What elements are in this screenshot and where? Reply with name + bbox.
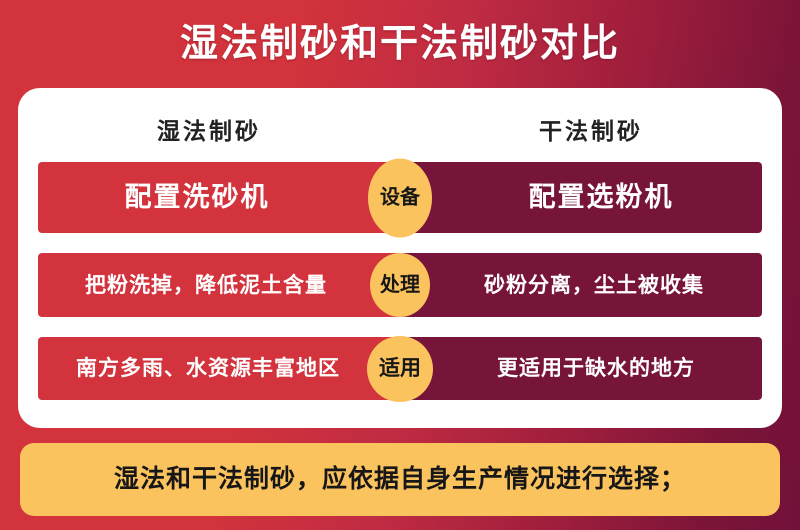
footer-banner-text: 湿法和干法制砂，应依据自身生产情况进行选择； xyxy=(114,467,686,492)
row-left-text: 配置洗砂机 xyxy=(125,184,270,211)
row-left-text: 把粉洗掉，降低泥土含量 xyxy=(85,275,327,296)
column-header-wet-label: 湿法制砂 xyxy=(157,112,261,146)
column-header-dry: 干法制砂 xyxy=(400,104,782,154)
row-right-cell: 配置选粉机 xyxy=(400,162,762,233)
row-left-cell: 南方多雨、水资源丰富地区 xyxy=(38,337,400,400)
comparison-column-headers: 湿法制砂 干法制砂 xyxy=(18,104,782,154)
row-category-label: 设备 xyxy=(380,188,420,208)
infographic-poster: 湿法制砂和干法制砂对比 湿法制砂 干法制砂 配置洗砂机 配置选粉机 xyxy=(0,0,800,530)
row-category-label: 处理 xyxy=(380,275,420,295)
row-category-badge: 适用 xyxy=(367,336,433,402)
page-title: 湿法制砂和干法制砂对比 xyxy=(180,25,620,63)
row-left-text: 南方多雨、水资源丰富地区 xyxy=(76,358,340,379)
row-right-cell: 更适用于缺水的地方 xyxy=(400,337,762,400)
row-category-badge: 设备 xyxy=(368,158,432,237)
column-header-wet: 湿法制砂 xyxy=(18,104,400,154)
row-category-badge: 处理 xyxy=(370,253,430,317)
row-right-text: 砂粉分离，尘土被收集 xyxy=(484,275,704,296)
comparison-row-equipment: 配置洗砂机 配置选粉机 设备 xyxy=(38,162,762,233)
row-right-cell: 砂粉分离，尘土被收集 xyxy=(400,253,762,317)
comparison-rows: 配置洗砂机 配置选粉机 设备 把粉洗掉，降低泥土含量 砂粉分离，尘土被收集 xyxy=(38,162,762,400)
comparison-row-application: 南方多雨、水资源丰富地区 更适用于缺水的地方 适用 xyxy=(38,337,762,400)
row-left-cell: 把粉洗掉，降低泥土含量 xyxy=(38,253,400,317)
row-category-label: 适用 xyxy=(379,358,421,379)
footer-banner: 湿法和干法制砂，应依据自身生产情况进行选择； xyxy=(20,443,780,516)
row-right-text: 配置选粉机 xyxy=(529,184,674,211)
comparison-row-processing: 把粉洗掉，降低泥土含量 砂粉分离，尘土被收集 处理 xyxy=(38,253,762,317)
row-right-text: 更适用于缺水的地方 xyxy=(497,358,695,379)
row-left-cell: 配置洗砂机 xyxy=(38,162,400,233)
column-header-dry-label: 干法制砂 xyxy=(539,112,643,146)
comparison-card: 湿法制砂 干法制砂 配置洗砂机 配置选粉机 设备 xyxy=(18,88,782,428)
poster-title-bar: 湿法制砂和干法制砂对比 xyxy=(0,0,800,88)
